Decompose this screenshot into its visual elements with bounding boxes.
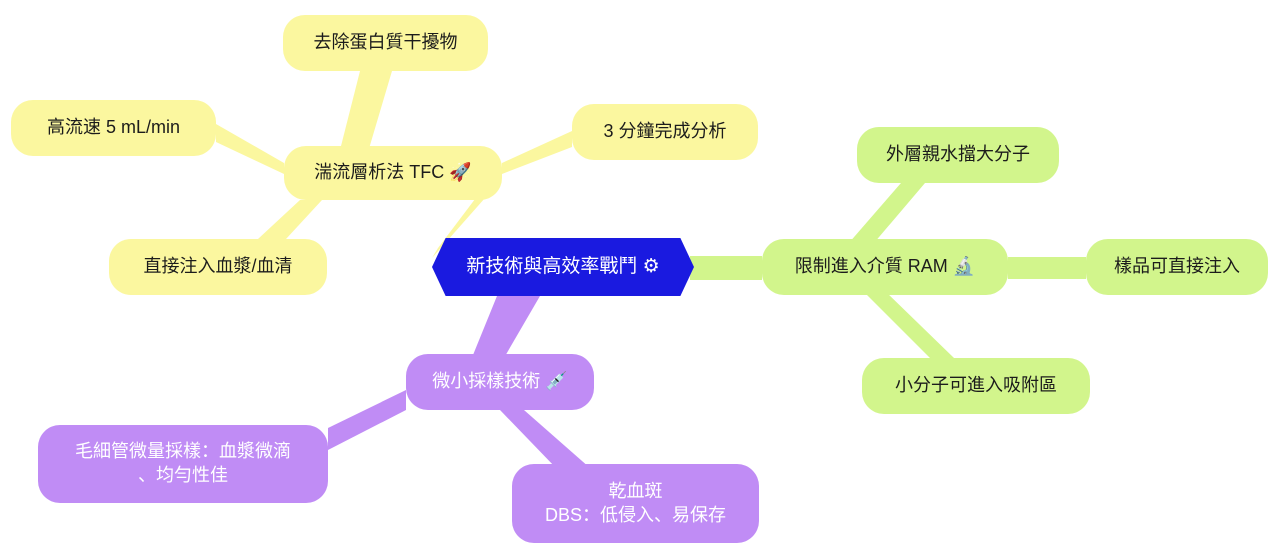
link-root-ram bbox=[690, 256, 762, 280]
micro-child-dbs-label: 乾血斑 DBS：低侵入、易保存 bbox=[545, 480, 726, 528]
tfc-child-plasma-label: 直接注入血漿/血清 bbox=[143, 255, 292, 279]
micro-child-capillary[interactable]: 毛細管微量採樣：血漿微滴 、均勻性佳 bbox=[38, 425, 328, 503]
tfc-child-3min-label: 3 分鐘完成分析 bbox=[603, 120, 726, 144]
ram-child-small-molecule-label: 小分子可進入吸附區 bbox=[895, 374, 1057, 398]
tfc-child-flowrate[interactable]: 高流速 5 mL/min bbox=[11, 100, 216, 156]
link-ram-direct-inject bbox=[1008, 257, 1086, 279]
link-micro-dbs bbox=[500, 410, 590, 468]
branch-tfc-label: 湍流層析法 TFC 🚀 bbox=[314, 161, 471, 185]
ram-child-hydrophilic[interactable]: 外層親水擋大分子 bbox=[857, 127, 1059, 183]
link-tfc-plasma bbox=[258, 200, 322, 239]
link-tfc-protein bbox=[340, 71, 392, 152]
tfc-child-flowrate-label: 高流速 5 mL/min bbox=[47, 116, 180, 140]
tfc-child-protein[interactable]: 去除蛋白質干擾物 bbox=[283, 15, 488, 71]
micro-child-dbs[interactable]: 乾血斑 DBS：低侵入、易保存 bbox=[512, 464, 759, 543]
ram-child-direct-inject[interactable]: 樣品可直接注入 bbox=[1086, 239, 1268, 295]
micro-child-capillary-label: 毛細管微量採樣：血漿微滴 、均勻性佳 bbox=[75, 440, 291, 488]
mindmap-canvas: 新技術與高效率戰鬥 ⚙湍流層析法 TFC 🚀去除蛋白質干擾物高流速 5 mL/m… bbox=[0, 0, 1280, 555]
ram-child-hydrophilic-label: 外層親水擋大分子 bbox=[886, 143, 1030, 167]
ram-child-direct-inject-label: 樣品可直接注入 bbox=[1114, 255, 1240, 279]
root-node-label: 新技術與高效率戰鬥 ⚙ bbox=[466, 254, 659, 279]
branch-microsampling[interactable]: 微小採樣技術 💉 bbox=[406, 354, 594, 410]
tfc-child-protein-label: 去除蛋白質干擾物 bbox=[314, 31, 458, 55]
link-ram-small-molecule bbox=[862, 290, 954, 358]
branch-microsampling-label: 微小採樣技術 💉 bbox=[432, 370, 567, 394]
link-micro-capillary bbox=[328, 390, 406, 450]
branch-ram-label: 限制進入介質 RAM 🔬 bbox=[795, 255, 975, 279]
branch-tfc[interactable]: 湍流層析法 TFC 🚀 bbox=[284, 146, 502, 200]
root-node[interactable]: 新技術與高效率戰鬥 ⚙ bbox=[432, 238, 694, 296]
link-tfc-3min bbox=[502, 131, 572, 174]
ram-child-small-molecule[interactable]: 小分子可進入吸附區 bbox=[862, 358, 1090, 414]
link-tfc-flowrate bbox=[216, 124, 284, 174]
tfc-child-3min[interactable]: 3 分鐘完成分析 bbox=[572, 104, 758, 160]
branch-ram[interactable]: 限制進入介質 RAM 🔬 bbox=[762, 239, 1008, 295]
tfc-child-plasma[interactable]: 直接注入血漿/血清 bbox=[109, 239, 327, 295]
